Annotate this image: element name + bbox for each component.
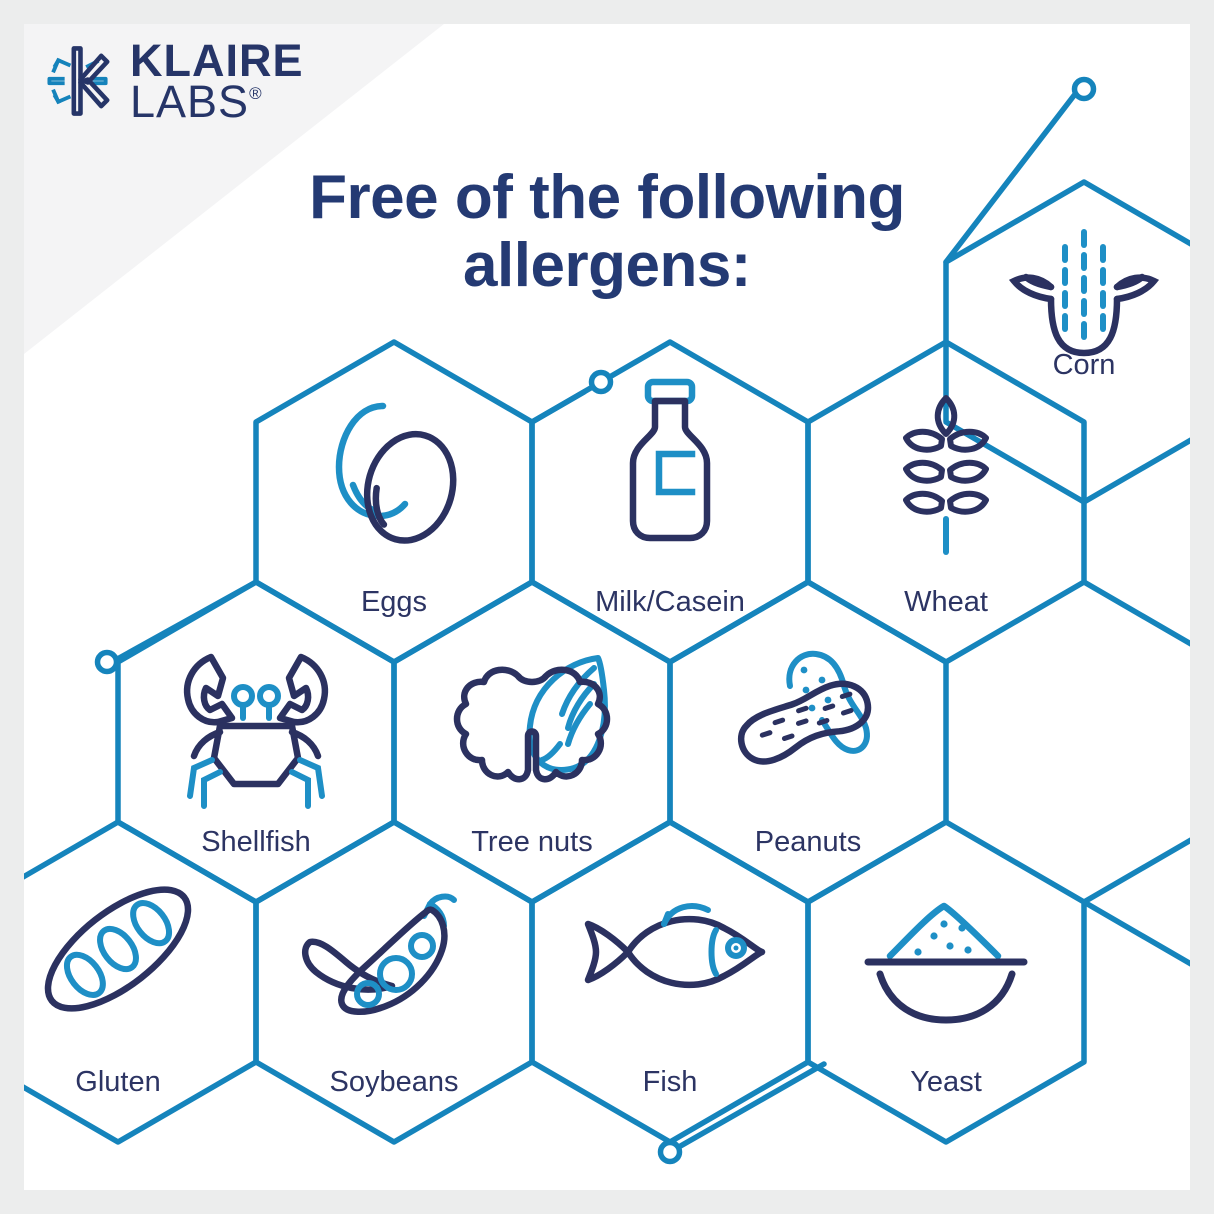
allergen-label-wheat: Wheat [904, 586, 988, 619]
allergen-label-peanuts: Peanuts [755, 826, 861, 859]
white-canvas: Corn Eggs Milk/Casein Wheat Shellfish Tr… [24, 24, 1190, 1190]
brand-name-line1: KLAIRE [130, 40, 304, 81]
allergen-label-gluten: Gluten [75, 1066, 160, 1099]
allergen-label-eggs: Eggs [361, 586, 427, 619]
klaire-snowflake-k-mark [42, 44, 116, 118]
brand-wordmark: KLAIRE LABS ® [130, 40, 304, 123]
allergen-label-soybeans: Soybeans [330, 1066, 459, 1099]
page-title-line1: Free of the following [267, 164, 947, 232]
connector-node-circle [1075, 80, 1094, 99]
brand-name-labs: LABS [130, 81, 249, 122]
page-title: Free of the following allergens: [267, 164, 947, 300]
infographic-canvas: Corn Eggs Milk/Casein Wheat Shellfish Tr… [0, 0, 1214, 1214]
page-title-line2: allergens: [267, 232, 947, 300]
brand-logo: KLAIRE LABS ® [42, 40, 304, 123]
allergen-label-corn: Corn [1053, 349, 1116, 382]
allergen-label-tree-nuts: Tree nuts [471, 826, 592, 859]
connector-node-circle [592, 373, 611, 392]
registered-trademark-mark: ® [249, 85, 263, 102]
allergen-label-fish: Fish [643, 1066, 698, 1099]
connector-node-circle [98, 653, 117, 672]
allergen-label-shellfish: Shellfish [201, 826, 311, 859]
allergen-label-milk-casein: Milk/Casein [595, 586, 745, 619]
brand-name-line2: LABS ® [130, 81, 304, 122]
allergen-label-yeast: Yeast [910, 1066, 982, 1099]
connector-node-circle [661, 1143, 680, 1162]
